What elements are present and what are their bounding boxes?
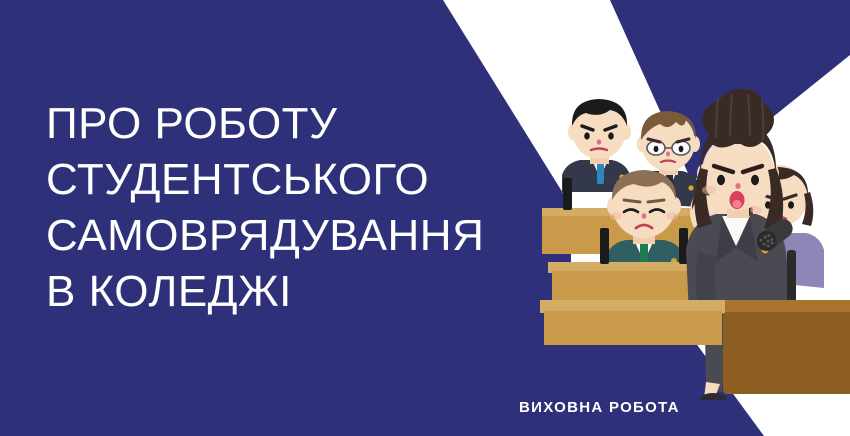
title-line-3: САМОВРЯДУВАННЯ [46,208,566,264]
title-line-4: В КОЛЕДЖІ [46,264,566,320]
page-title: ПРО РОБОТУ СТУДЕНТСЬКОГО САМОВРЯДУВАННЯ … [46,96,566,320]
podium [718,300,850,394]
banner-root: ПРО РОБОТУ СТУДЕНТСЬКОГО САМОВРЯДУВАННЯ … [0,0,850,436]
microphone-middle [600,228,609,264]
category-label: ВИХОВНА РОБОТА [519,399,680,416]
title-line-2: СТУДЕНТСЬКОГО [46,152,566,208]
title-line-1: ПРО РОБОТУ [46,96,566,152]
desk-front-row [540,300,725,345]
